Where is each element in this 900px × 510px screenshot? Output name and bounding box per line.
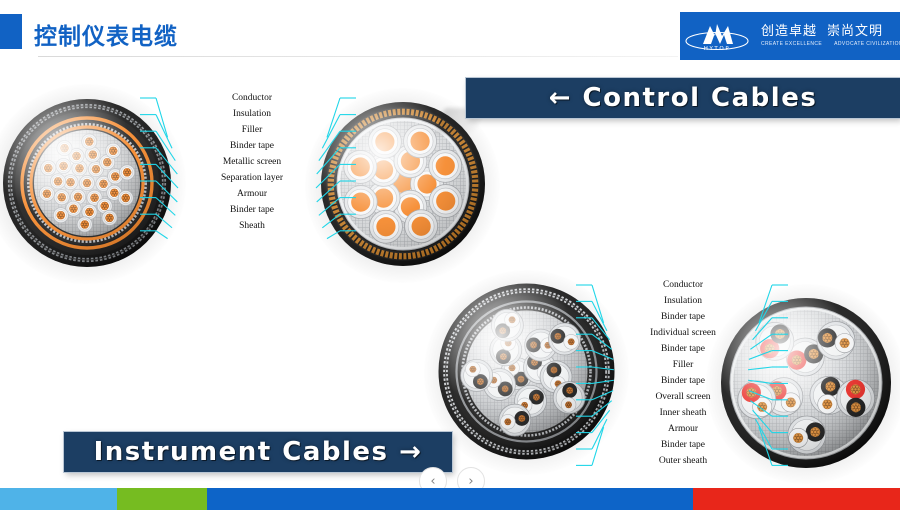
slogan-en-2: ADVOCATE CIVILIZATION (834, 41, 900, 47)
control-label-6: Armour (196, 186, 308, 202)
instrument-label-11: Outer sheath (628, 453, 738, 469)
slogan-cn-2: 崇尚文明 (827, 24, 883, 39)
control-label-0: Conductor (196, 90, 308, 106)
instrument-label-0: Conductor (628, 277, 738, 293)
svg-text:HYTOP: HYTOP (704, 46, 731, 52)
instrument-label-7: Overall screen (628, 389, 738, 405)
control-label-7: Binder tape (196, 202, 308, 218)
logo-slogan: 创造卓越崇尚文明 CREATE EXCELLENCEADVOCATE CIVIL… (761, 25, 900, 47)
instrument-label-2: Binder tape (628, 309, 738, 325)
control-label-1: Insulation (196, 106, 308, 122)
footer-color-bar (0, 488, 900, 510)
instrument-label-9: Armour (628, 421, 738, 437)
control-label-8: Sheath (196, 218, 308, 234)
cable-diagram-control-armoured (2, 98, 172, 268)
instrument-label-5: Filler (628, 357, 738, 373)
cable-diagram-instrument-unarmoured (720, 297, 892, 469)
instrument-label-10: Binder tape (628, 437, 738, 453)
footer-seg-blue (207, 488, 693, 510)
header-divider (38, 56, 678, 57)
instrument-label-3: Individual screen (628, 325, 738, 341)
cable-diagram-instrument-armoured (438, 283, 615, 460)
slogan-cn-1: 创造卓越 (761, 24, 817, 39)
company-logo-bar: HYTOP 创造卓越崇尚文明 CREATE EXCELLENCEADVOCATE… (680, 12, 900, 60)
instrument-label-1: Insulation (628, 293, 738, 309)
instrument-label-6: Binder tape (628, 373, 738, 389)
control-label-3: Binder tape (196, 138, 308, 154)
footer-seg-light-blue (0, 488, 117, 510)
slogan-en-1: CREATE EXCELLENCE (761, 41, 822, 47)
banner-control-cables[interactable]: ← Control Cables (466, 78, 900, 118)
slide-page: 控制仪表电缆 HYTOP 创造卓越崇尚文明 CREATE EXCELLENCEA… (0, 0, 900, 510)
instrument-label-8: Inner sheath (628, 405, 738, 421)
control-cable-label-list: ConductorInsulationFillerBinder tapeMeta… (196, 90, 308, 234)
instrument-cable-label-list: ConductorInsulationBinder tapeIndividual… (628, 277, 738, 469)
footer-seg-red (693, 488, 900, 510)
control-label-5: Separation layer (196, 170, 308, 186)
page-title: 控制仪表电缆 (34, 17, 178, 51)
control-label-2: Filler (196, 122, 308, 138)
banner-instrument-cables[interactable]: Instrument Cables → (64, 432, 452, 472)
header-accent-bar (0, 14, 22, 49)
instrument-label-4: Binder tape (628, 341, 738, 357)
control-label-4: Metallic screen (196, 154, 308, 170)
footer-seg-green (117, 488, 207, 510)
hytop-m-logo-icon: HYTOP (680, 16, 754, 56)
